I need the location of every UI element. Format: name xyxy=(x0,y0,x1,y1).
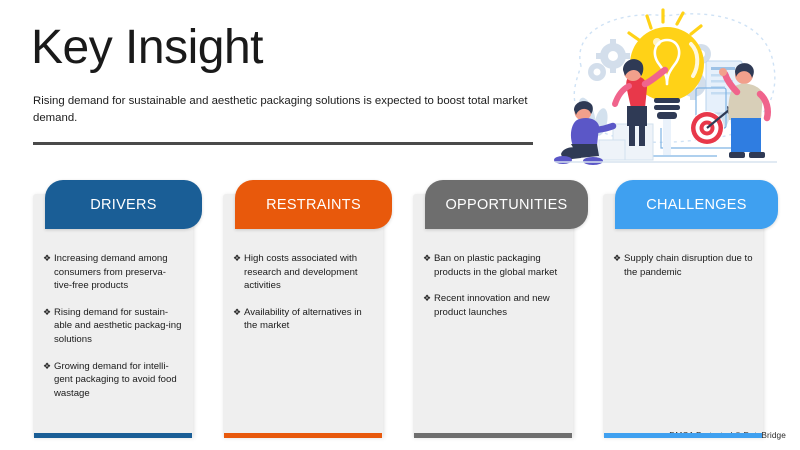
insight-cards-row: DRIVERS ❖ Increasing demand among consum… xyxy=(0,0,800,450)
diamond-bullet-icon: ❖ xyxy=(233,306,244,320)
card-footbar-challenges xyxy=(604,433,762,438)
card-header-drivers[interactable]: DRIVERS xyxy=(45,180,202,229)
list-item: ❖ Ban on plastic packaging products in t… xyxy=(423,252,564,279)
card-footbar-drivers xyxy=(34,433,192,438)
list-item: ❖ Growing demand for intelli-gent packag… xyxy=(43,360,184,401)
list-item-text: Recent innovation and new product launch… xyxy=(434,292,564,319)
diamond-bullet-icon: ❖ xyxy=(613,252,624,266)
diamond-bullet-icon: ❖ xyxy=(43,306,54,320)
card-header-challenges[interactable]: CHALLENGES xyxy=(615,180,778,229)
list-item: ❖ Recent innovation and new product laun… xyxy=(423,292,564,319)
card-footbar-restraints xyxy=(224,433,382,438)
list-item-text: Availability of alternatives in the mark… xyxy=(244,306,374,333)
diamond-bullet-icon: ❖ xyxy=(43,252,54,266)
card-list-challenges: ❖ Supply chain disruption due to the pan… xyxy=(613,252,754,292)
card-title-drivers: DRIVERS xyxy=(90,197,157,213)
card-header-opportunities[interactable]: OPPORTUNITIES xyxy=(425,180,588,229)
list-item: ❖ Increasing demand among consumers from… xyxy=(43,252,184,293)
card-title-opportunities: OPPORTUNITIES xyxy=(445,197,567,213)
diamond-bullet-icon: ❖ xyxy=(423,292,434,306)
list-item-text: Supply chain disruption due to the pande… xyxy=(624,252,754,279)
card-header-restraints[interactable]: RESTRAINTS xyxy=(235,180,392,229)
diamond-bullet-icon: ❖ xyxy=(423,252,434,266)
list-item-text: High costs associated with research and … xyxy=(244,252,374,293)
list-item: ❖ Rising demand for sustain-able and aes… xyxy=(43,306,184,347)
card-footbar-opportunities xyxy=(414,433,572,438)
slide-root: Key Insight Rising demand for sustainabl… xyxy=(0,0,800,450)
list-item-text: Growing demand for intelli-gent packagin… xyxy=(54,360,184,401)
list-item: ❖ Supply chain disruption due to the pan… xyxy=(613,252,754,279)
card-list-drivers: ❖ Increasing demand among consumers from… xyxy=(43,252,184,413)
list-item: ❖ High costs associated with research an… xyxy=(233,252,374,293)
diamond-bullet-icon: ❖ xyxy=(233,252,244,266)
card-title-restraints: RESTRAINTS xyxy=(266,197,361,213)
card-title-challenges: CHALLENGES xyxy=(646,197,747,213)
card-list-restraints: ❖ High costs associated with research an… xyxy=(233,252,374,346)
card-body-challenges xyxy=(603,194,763,437)
list-item: ❖ Availability of alternatives in the ma… xyxy=(233,306,374,333)
list-item-text: Increasing demand among consumers from p… xyxy=(54,252,184,293)
card-list-opportunities: ❖ Ban on plastic packaging products in t… xyxy=(423,252,564,332)
diamond-bullet-icon: ❖ xyxy=(43,360,54,374)
list-item-text: Rising demand for sustain-able and aesth… xyxy=(54,306,184,347)
list-item-text: Ban on plastic packaging products in the… xyxy=(434,252,564,279)
